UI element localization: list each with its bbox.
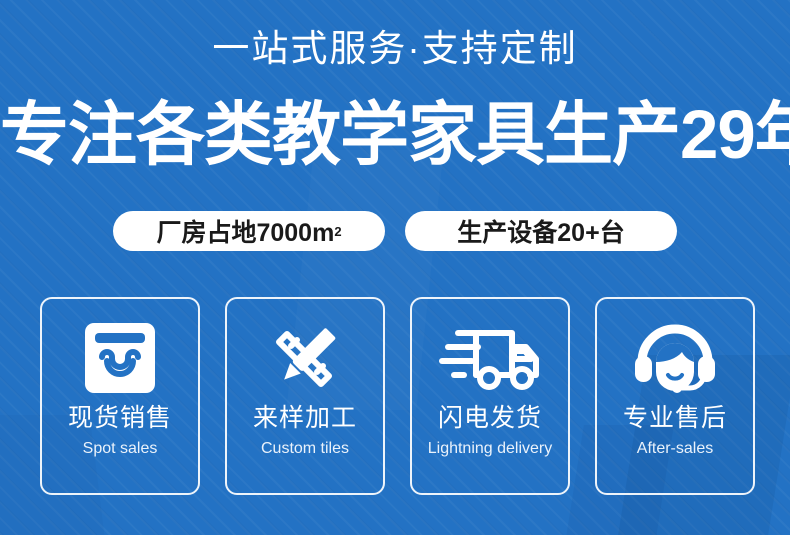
- promo-banner: 一站式服务·支持定制 专注各类教学家具生产29年 厂房占地7000m2 生产设备…: [0, 0, 790, 535]
- feature-card-subtitle: Custom tiles: [261, 439, 349, 459]
- feature-card-row: 现货销售 Spot sales: [40, 297, 755, 497]
- equipment-count-badge: 生产设备20+台: [405, 211, 677, 251]
- feature-card-lightning-delivery[interactable]: 闪电发货 Lightning delivery: [410, 297, 570, 495]
- factory-area-badge: 厂房占地7000m2: [113, 211, 385, 251]
- feature-card-subtitle: After-sales: [637, 439, 713, 459]
- feature-card-subtitle: Spot sales: [83, 439, 158, 459]
- stats-badge-row: 厂房占地7000m2 生产设备20+台: [0, 211, 790, 251]
- pencil-ruler-icon: [265, 319, 345, 397]
- headset-agent-icon: [632, 319, 718, 397]
- delivery-truck-icon: [438, 319, 542, 397]
- feature-card-custom-tiles[interactable]: 来样加工 Custom tiles: [225, 297, 385, 495]
- feature-card-after-sales[interactable]: 专业售后 After-sales: [595, 297, 755, 495]
- equipment-count-badge-label: 生产设备20+台: [457, 213, 624, 249]
- sub-headline: 一站式服务·支持定制: [0, 26, 790, 72]
- shopping-bag-icon: [83, 319, 157, 397]
- feature-card-spot-sales[interactable]: 现货销售 Spot sales: [40, 297, 200, 495]
- factory-area-badge-label: 厂房占地7000m: [156, 213, 334, 249]
- factory-area-badge-superscript: 2: [334, 224, 341, 239]
- feature-card-title: 闪电发货: [438, 403, 542, 433]
- feature-card-title: 专业售后: [623, 403, 727, 433]
- main-headline: 专注各类教学家具生产29年: [0, 94, 790, 176]
- feature-card-title: 来样加工: [253, 403, 357, 433]
- feature-card-title: 现货销售: [68, 403, 172, 433]
- feature-card-subtitle: Lightning delivery: [428, 439, 553, 459]
